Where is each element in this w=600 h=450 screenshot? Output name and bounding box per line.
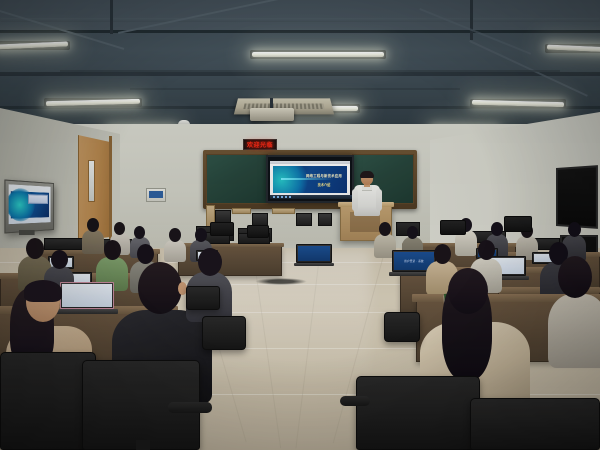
speaker bbox=[318, 213, 332, 226]
student-head bbox=[87, 218, 99, 232]
student-head bbox=[51, 250, 68, 269]
floor-cables bbox=[255, 278, 307, 285]
office-chair[interactable] bbox=[356, 376, 480, 450]
presenter-arm-left bbox=[352, 189, 358, 211]
front-cabinet bbox=[272, 208, 295, 214]
door-window bbox=[88, 160, 95, 202]
presenter-hair bbox=[360, 171, 374, 178]
office-chair-arm bbox=[340, 396, 370, 406]
student-torso bbox=[548, 294, 600, 368]
student-head bbox=[407, 226, 418, 239]
student bbox=[164, 228, 186, 260]
student-hair-top bbox=[24, 280, 62, 302]
interactive-display[interactable]: LOGO 网络工程与新技术应用 技术介绍 报告人 · 教研室 bbox=[266, 155, 354, 203]
left-monitor-slide-graphic bbox=[9, 188, 35, 222]
slide-title: 网络工程与新技术应用 bbox=[303, 174, 345, 179]
desktop-taskbar bbox=[270, 195, 354, 199]
student-head bbox=[114, 222, 125, 235]
speaker bbox=[296, 213, 312, 226]
ceiling-light bbox=[252, 52, 384, 57]
student-head bbox=[491, 222, 503, 236]
office-chair-post bbox=[136, 440, 150, 450]
wall-control-panel-screen bbox=[149, 191, 163, 198]
office-chair[interactable] bbox=[470, 398, 600, 450]
desktop-monitor bbox=[504, 216, 532, 232]
student-head bbox=[195, 228, 207, 242]
student-head bbox=[568, 222, 581, 237]
student-head bbox=[137, 244, 154, 264]
student bbox=[548, 256, 600, 366]
slide-banner: 网络工程与新技术应用 技术介绍 bbox=[273, 166, 347, 193]
student-head bbox=[478, 240, 495, 260]
desktop-monitor bbox=[210, 222, 234, 236]
left-wall-monitor[interactable] bbox=[4, 179, 54, 233]
slide-subtitle: 技术介绍 bbox=[303, 183, 345, 187]
presentation-slide: LOGO 网络工程与新技术应用 技术介绍 报告人 · 教研室 bbox=[270, 161, 350, 197]
student-head bbox=[379, 222, 391, 236]
student-head bbox=[138, 262, 182, 314]
office-chair[interactable] bbox=[186, 286, 220, 310]
student-head bbox=[448, 268, 488, 314]
left-wall-monitor-stand bbox=[19, 230, 35, 235]
student-head bbox=[558, 256, 592, 298]
green-chalkboard-left bbox=[206, 154, 268, 204]
office-chair-arm bbox=[168, 402, 212, 413]
student-head bbox=[134, 226, 145, 239]
student-head bbox=[169, 228, 181, 242]
office-chair[interactable] bbox=[384, 312, 420, 342]
student-head bbox=[198, 248, 222, 276]
student-head bbox=[434, 244, 451, 264]
student-head bbox=[104, 240, 121, 260]
left-wall-monitor-screen bbox=[9, 184, 51, 224]
laptop[interactable] bbox=[296, 244, 332, 266]
ceiling-projector bbox=[250, 108, 294, 121]
presenter bbox=[352, 172, 382, 216]
front-cabinet bbox=[232, 208, 251, 214]
student-head bbox=[26, 238, 44, 259]
classroom-photo: LOGO 网络工程与新技术应用 技术介绍 报告人 · 教研室 欢迎光临 bbox=[0, 0, 600, 450]
desktop-monitor bbox=[440, 220, 466, 235]
student-torso bbox=[164, 240, 186, 262]
presenter-arm-right bbox=[376, 189, 382, 211]
led-scrolling-sign: 欢迎光临 bbox=[243, 139, 277, 150]
left-monitor-slide-title-box bbox=[28, 194, 48, 204]
office-chair[interactable] bbox=[202, 316, 246, 350]
slide-app-toolbar bbox=[270, 161, 350, 164]
led-sign-text: 欢迎光临 bbox=[247, 140, 273, 149]
desktop-monitor bbox=[247, 225, 269, 238]
right-wall-monitor-upper[interactable] bbox=[556, 165, 598, 229]
